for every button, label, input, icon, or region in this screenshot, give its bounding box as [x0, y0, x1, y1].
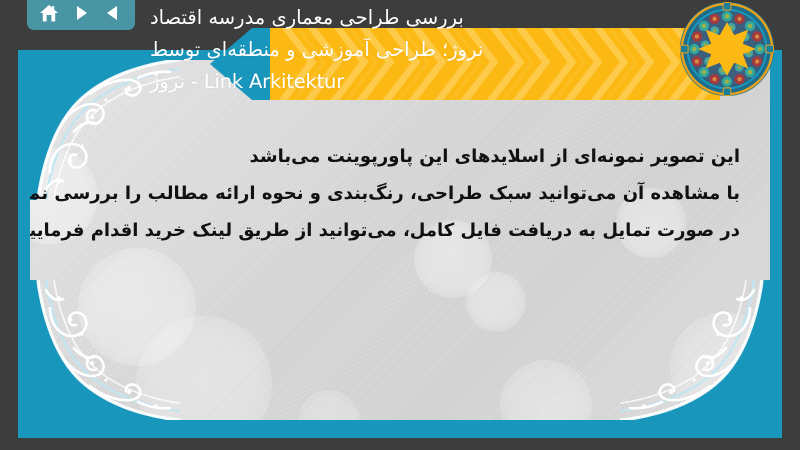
body-line-3: در صورت تمایل به دریافت فایل کامل، می‌تو…: [70, 212, 740, 249]
arabesque-corner-icon: [30, 280, 180, 420]
page-title: بررسی طراحی معماری مدرسه اقتصاد نروژ؛ طر…: [150, 0, 690, 100]
bokeh-circle: [670, 312, 770, 420]
forward-button[interactable]: [68, 1, 94, 25]
bokeh-circle: [136, 316, 272, 420]
body-line-1: این تصویر نمونه‌ای از اسلایدهای این پاور…: [70, 138, 740, 175]
body-line-2: با مشاهده آن می‌توانید سبک طراحی، رنگ‌بن…: [70, 175, 740, 212]
arabesque-corner-icon: [620, 280, 770, 420]
triangle-right-icon: [72, 4, 90, 22]
mandala-rosette-icon: [679, 0, 775, 100]
title-line-3: Link Arkitektur - نروژ: [150, 66, 344, 98]
home-icon: [39, 4, 59, 23]
bokeh-circle: [466, 272, 526, 332]
title-line-1: بررسی طراحی معماری مدرسه اقتصاد: [150, 2, 464, 34]
presentation-viewer: بررسی طراحی معماری مدرسه اقتصاد نروژ؛ طر…: [0, 0, 800, 450]
title-line-2: نروژ؛ طراحی آموزشی و منطقه‌ای توسط: [150, 34, 483, 66]
bokeh-circle: [298, 390, 360, 420]
back-button[interactable]: [100, 1, 126, 25]
navigation-toolbar[interactable]: [27, 0, 135, 30]
triangle-left-icon: [104, 4, 122, 22]
slide-frame: این تصویر نمونه‌ای از اسلایدهای این پاور…: [18, 50, 782, 438]
slide-body-text: این تصویر نمونه‌ای از اسلایدهای این پاور…: [70, 138, 740, 249]
slide-canvas: این تصویر نمونه‌ای از اسلایدهای این پاور…: [30, 60, 770, 420]
bokeh-circle: [500, 360, 592, 420]
bokeh-circle: [78, 248, 196, 366]
home-button[interactable]: [36, 1, 62, 25]
